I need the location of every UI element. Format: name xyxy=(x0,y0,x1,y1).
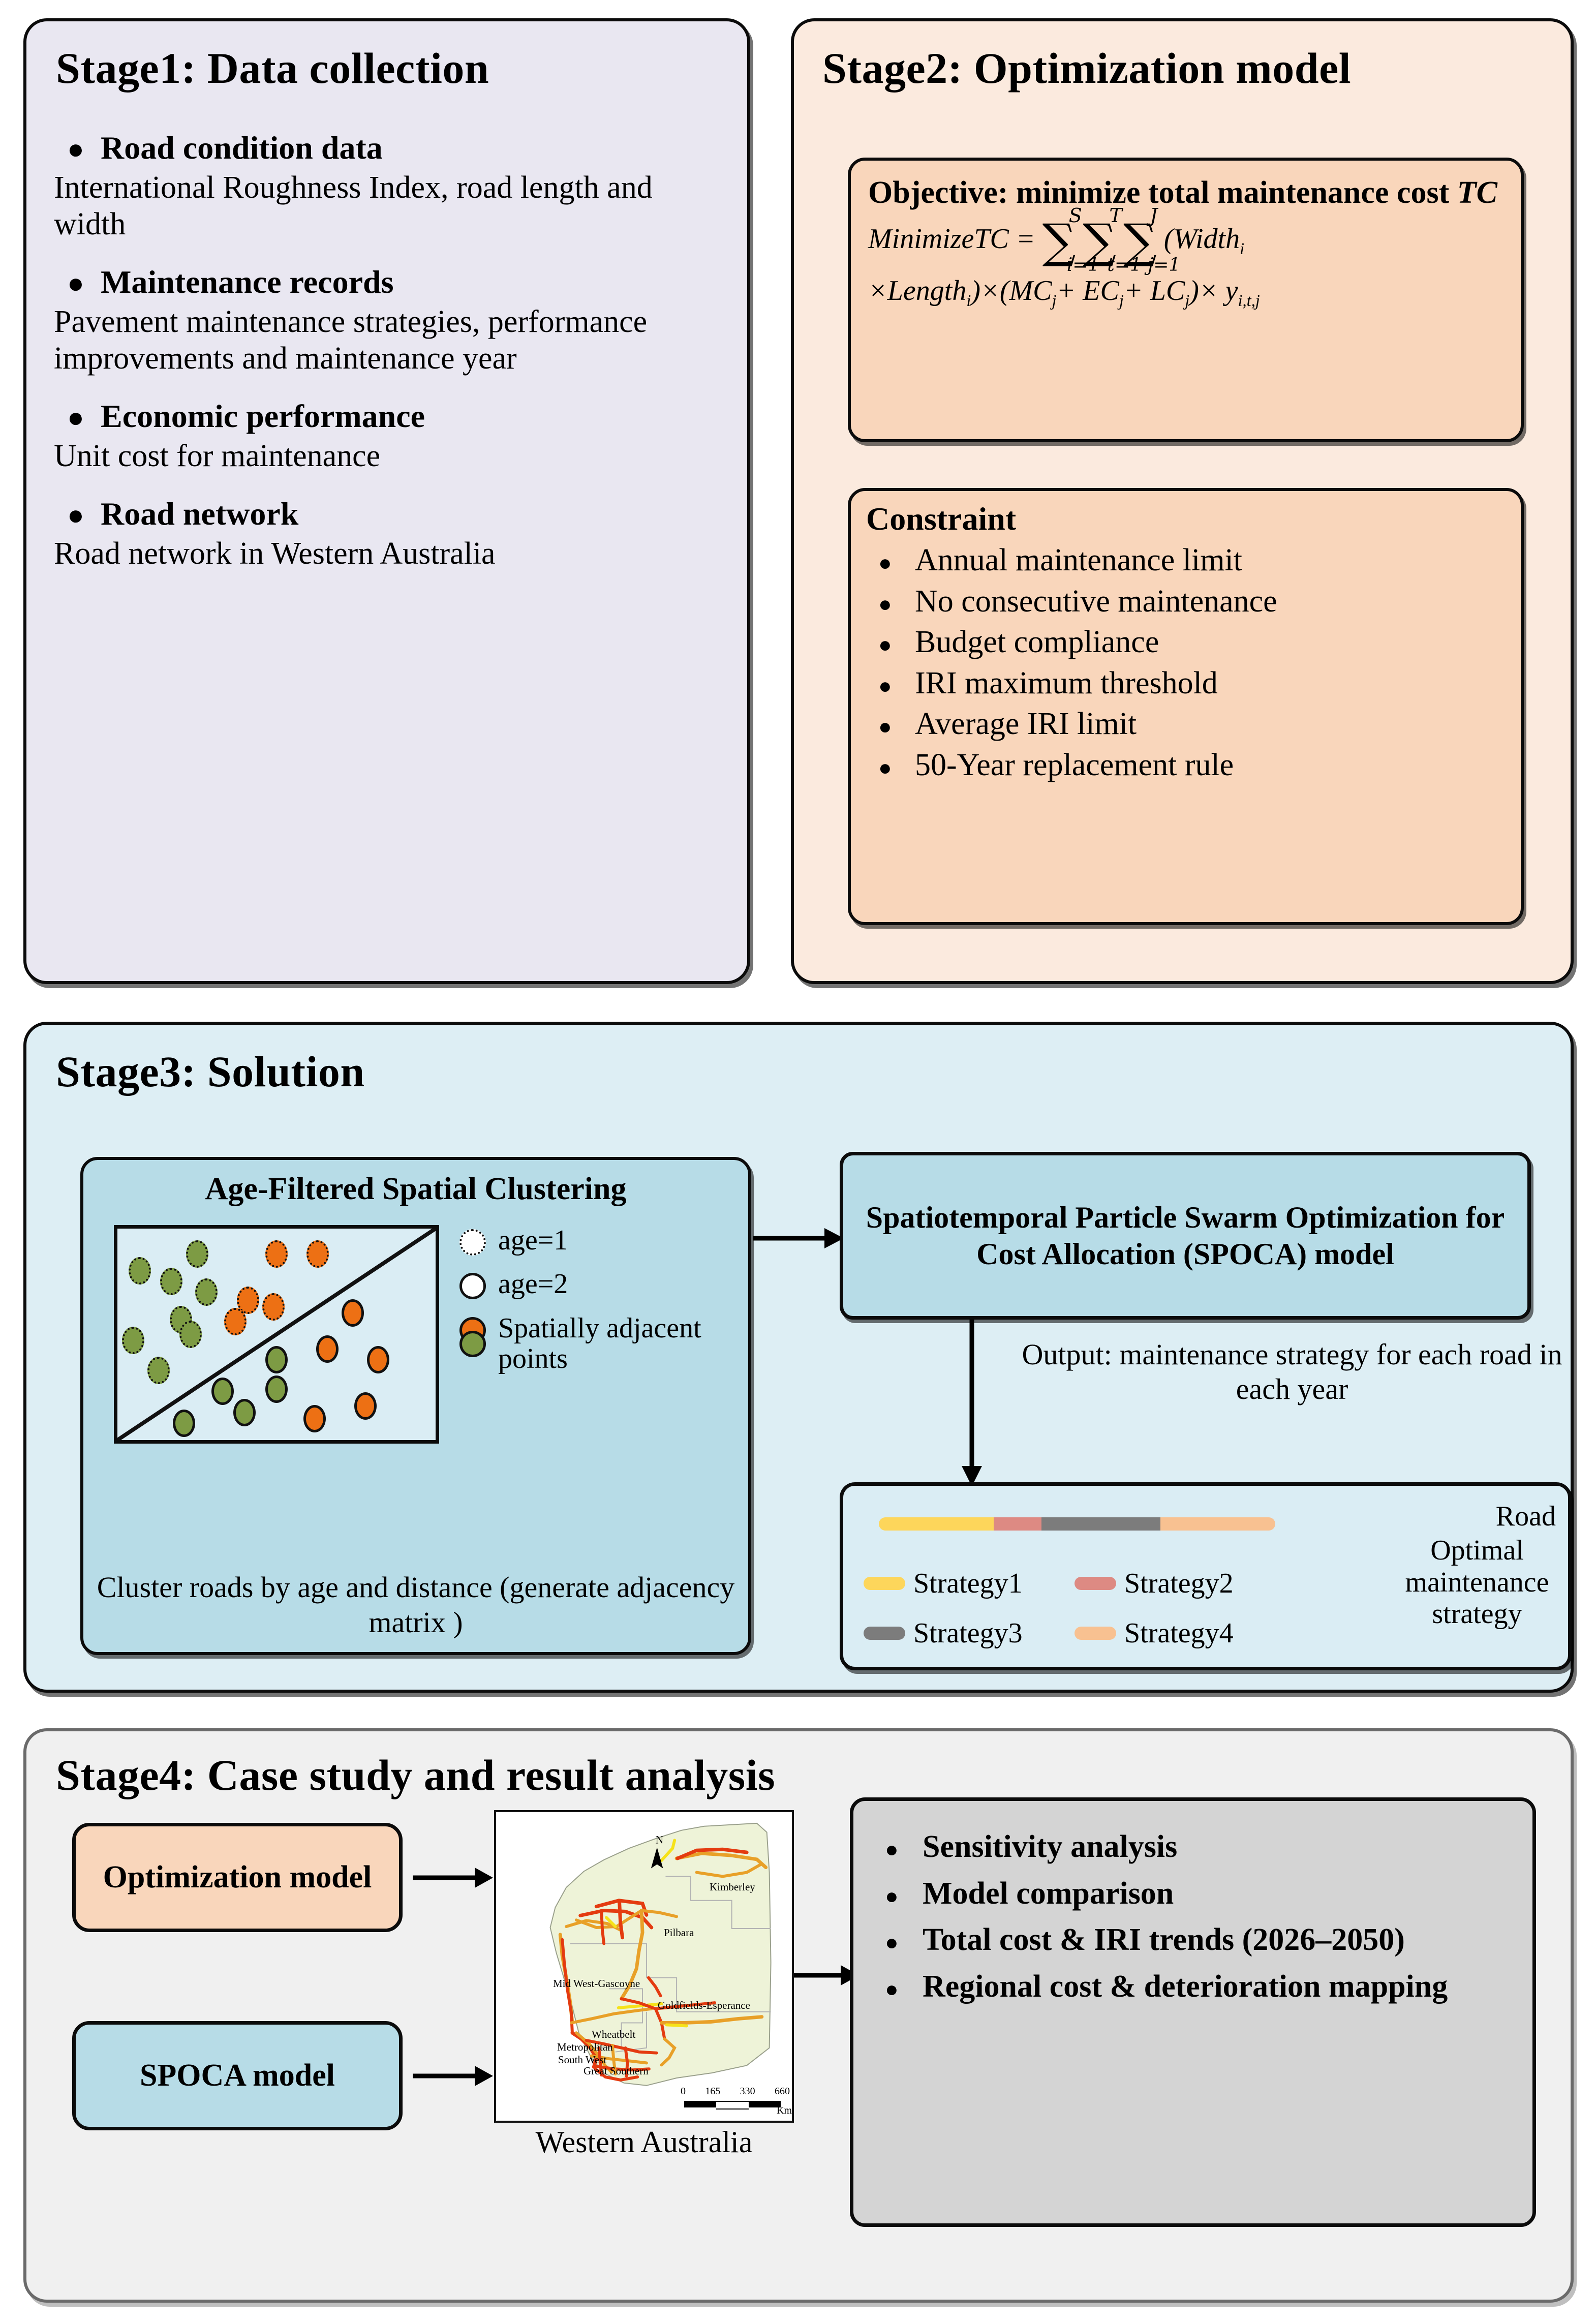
map-scale-bar-icon xyxy=(684,2101,781,2107)
legend-label: age=2 xyxy=(498,1269,568,1299)
bullet-icon: ● xyxy=(874,1836,923,1863)
clustering-title: Age-Filtered Spatial Clustering xyxy=(83,1171,748,1207)
bullet-icon: ● xyxy=(54,402,101,434)
road-segment xyxy=(1041,1517,1160,1531)
results-box: ●Sensitivity analysis ●Model comparison … xyxy=(850,1797,1536,2227)
list-item-sub: International Roughness Index, road leng… xyxy=(54,170,727,243)
objective-box: Objective: minimize total maintenance co… xyxy=(848,158,1524,442)
legend-label: Strategy3 xyxy=(913,1617,1023,1649)
scatter-point xyxy=(265,1346,288,1373)
bullet-icon: ● xyxy=(874,1975,923,2003)
scatter-point xyxy=(233,1399,256,1426)
legend-label: Spatially adjacent points xyxy=(498,1313,724,1374)
scatter-point xyxy=(129,1257,151,1285)
list-item: ●Road condition data International Rough… xyxy=(54,129,727,243)
age2-marker-icon xyxy=(459,1273,486,1299)
list-item: ●IRI maximum threshold xyxy=(866,663,1506,704)
legend-label: Strategy4 xyxy=(1124,1617,1234,1649)
list-item: ●Road network Road network in Western Au… xyxy=(54,495,727,572)
map-region-label: Metropolitan xyxy=(557,2041,613,2054)
stage4-title: Stage4: Case study and result analysis xyxy=(56,1750,775,1800)
formula-width-term: (Widthi xyxy=(1164,223,1244,255)
cluster-scatter-plot xyxy=(114,1225,439,1444)
bullet-icon: ● xyxy=(54,267,101,300)
objective-formula-line1: MinimizeTC = ∑Si=1 ∑Tt=1 ∑Jj=1 (Widthi xyxy=(868,224,1503,259)
scatter-point xyxy=(306,1240,329,1268)
legend-item: age=2 xyxy=(459,1269,724,1299)
constraint-title: Constraint xyxy=(866,500,1506,538)
western-australia-map[interactable]: N Kimberley Pilbara Mid West-Gascoyne Go… xyxy=(494,1810,794,2123)
legend-item: Spatially adjacent points xyxy=(459,1313,724,1374)
road-strategy-bar xyxy=(879,1517,1275,1531)
list-item-head: Road condition data xyxy=(101,129,383,167)
bullet-icon: ● xyxy=(874,1929,923,1957)
road-segment xyxy=(1160,1517,1275,1531)
scatter-point xyxy=(316,1335,339,1363)
legend-item: Strategy1 xyxy=(864,1567,1075,1600)
road-segment xyxy=(994,1517,1041,1531)
list-item: ●50-Year replacement rule xyxy=(866,745,1506,786)
strategy1-swatch-icon xyxy=(864,1577,905,1590)
formula-lhs: MinimizeTC = xyxy=(868,223,1035,255)
legend-item: age=1 xyxy=(459,1225,724,1256)
list-item: ●Sensitivity analysis xyxy=(874,1827,1517,1867)
map-region-label: Pilbara xyxy=(664,1927,694,1939)
legend-label: age=1 xyxy=(498,1225,568,1256)
stage3-panel: Stage3: Solution Age-Filtered Spatial Cl… xyxy=(23,1022,1574,1693)
svg-text:N: N xyxy=(656,1833,664,1846)
scatter-point xyxy=(303,1405,326,1432)
arrow-down-icon xyxy=(957,1320,987,1487)
stage2-panel: Stage2: Optimization model Objective: mi… xyxy=(791,18,1574,984)
legend-label: Strategy2 xyxy=(1124,1567,1234,1600)
clustering-caption: Cluster roads by age and distance (gener… xyxy=(83,1570,748,1640)
spoca-model-label: Spatiotemporal Particle Swarm Optimizati… xyxy=(843,1199,1527,1272)
map-figure: N Kimberley Pilbara Mid West-Gascoyne Go… xyxy=(494,1810,794,2166)
list-item: ●Budget compliance xyxy=(866,622,1506,663)
map-scale-numbers: 0 165 330 660 xyxy=(681,2086,790,2097)
list-item: ●Maintenance records Pavement maintenanc… xyxy=(54,263,727,377)
scatter-point xyxy=(211,1378,234,1405)
scatter-point xyxy=(147,1357,170,1384)
list-item: ●No consecutive maintenance xyxy=(866,581,1506,622)
map-scale-unit: Km xyxy=(777,2105,792,2117)
list-item: ●Model comparison xyxy=(874,1874,1517,1914)
map-region-label: Wheatbelt xyxy=(592,2028,635,2041)
bullet-icon: ● xyxy=(866,548,915,577)
bullet-icon: ● xyxy=(866,712,915,741)
scatter-point xyxy=(173,1410,195,1437)
legend-label: Strategy1 xyxy=(913,1567,1023,1600)
arrow-right-icon xyxy=(413,1862,494,1893)
scatter-point xyxy=(265,1240,288,1268)
arrow-right-icon xyxy=(753,1223,845,1254)
stage3-title: Stage3: Solution xyxy=(56,1046,365,1097)
road-segment xyxy=(879,1517,994,1531)
legend-item: Strategy4 xyxy=(1075,1617,1285,1649)
cluster-legend: age=1 age=2 Spatially adjacent points xyxy=(459,1225,724,1370)
stage1-list: ●Road condition data International Rough… xyxy=(54,129,727,592)
stage1-panel: Stage1: Data collection ●Road condition … xyxy=(23,18,750,984)
bullet-icon: ● xyxy=(874,1882,923,1910)
bullet-icon: ● xyxy=(866,671,915,700)
stage1-title: Stage1: Data collection xyxy=(56,43,489,94)
summation-icon: ∑Jj=1 xyxy=(1123,224,1157,259)
strategy3-swatch-icon xyxy=(864,1627,905,1640)
list-item-sub: Road network in Western Australia xyxy=(54,536,727,572)
list-item: ●Economic performance Unit cost for main… xyxy=(54,398,727,475)
bullet-icon: ● xyxy=(866,630,915,659)
objective-title: Objective: minimize total maintenance co… xyxy=(868,174,1503,212)
spoca-model-box: Spatiotemporal Particle Swarm Optimizati… xyxy=(840,1152,1531,1320)
summation-icon: ∑Si=1 xyxy=(1042,224,1076,259)
list-item: ● Regional cost & deterioration mapping xyxy=(874,1967,1517,2007)
list-item-sub: Pavement maintenance strategies, perform… xyxy=(54,304,727,377)
bullet-icon: ● xyxy=(54,133,101,166)
scatter-point xyxy=(160,1268,182,1295)
bullet-icon: ● xyxy=(54,499,101,532)
scatter-point xyxy=(367,1346,389,1373)
list-item-head: Road network xyxy=(101,495,298,533)
stage4-panel: Stage4: Case study and result analysis O… xyxy=(23,1728,1574,2303)
list-item-head: Maintenance records xyxy=(101,263,393,301)
map-region-label: Mid West-Gascoyne xyxy=(553,1977,640,1990)
scatter-point xyxy=(179,1321,202,1348)
list-item-sub: Unit cost for maintenance xyxy=(54,438,727,475)
strategy-result-box: Road Optimal maintenance strategy Strate… xyxy=(840,1482,1572,1670)
strategy2-swatch-icon xyxy=(1075,1577,1116,1590)
scatter-point xyxy=(354,1392,377,1420)
map-caption: Western Australia xyxy=(494,2125,794,2160)
optimal-strategy-label: Optimal maintenance strategy xyxy=(1393,1535,1561,1630)
scatter-point xyxy=(262,1293,285,1321)
arrow-right-icon xyxy=(413,2061,494,2091)
strategy4-swatch-icon xyxy=(1075,1627,1116,1640)
clustering-box: Age-Filtered Spatial Clustering age=1 ag… xyxy=(80,1157,751,1655)
scatter-point xyxy=(195,1278,218,1306)
map-region-label: Kimberley xyxy=(710,1881,755,1893)
green-marker-icon xyxy=(459,1331,486,1357)
legend-item: Strategy2 xyxy=(1075,1567,1285,1600)
optimization-model-pill[interactable]: Optimization model xyxy=(72,1823,403,1932)
list-item-head: Economic performance xyxy=(101,398,425,435)
road-label: Road xyxy=(1496,1500,1556,1533)
bullet-icon: ● xyxy=(866,753,915,782)
objective-formula-line2: ×Lengthi)×(MCj+ ECj+ LCj)× yi,t,j xyxy=(868,276,1503,310)
scatter-point xyxy=(186,1240,208,1268)
scatter-point xyxy=(224,1308,247,1335)
map-region-label: Great Southern xyxy=(584,2065,649,2077)
list-item: ●Total cost & IRI trends (2026–2050) xyxy=(874,1920,1517,1960)
scatter-point xyxy=(122,1327,144,1354)
output-description: Output: maintenance strategy for each ro… xyxy=(992,1337,1592,1407)
legend-item: Strategy3 xyxy=(864,1617,1075,1649)
map-region-label: Goldfields-Esperance xyxy=(658,1999,750,2012)
list-item: ●Average IRI limit xyxy=(866,704,1506,745)
scatter-point xyxy=(265,1376,288,1403)
summation-icon: ∑Tt=1 xyxy=(1083,224,1116,259)
stage2-title: Stage2: Optimization model xyxy=(822,43,1351,94)
strategy-legend: Strategy1 Strategy2 Strategy3 Strategy4 xyxy=(864,1567,1285,1649)
constraint-box: Constraint ●Annual maintenance limit ●No… xyxy=(848,488,1524,925)
tc-symbol: TC xyxy=(1457,175,1497,210)
bullet-icon: ● xyxy=(866,590,915,619)
spoca-model-pill[interactable]: SPOCA model xyxy=(72,2021,403,2130)
list-item: ●Annual maintenance limit xyxy=(866,540,1506,581)
scatter-point xyxy=(342,1299,364,1327)
age1-marker-icon xyxy=(459,1229,486,1256)
